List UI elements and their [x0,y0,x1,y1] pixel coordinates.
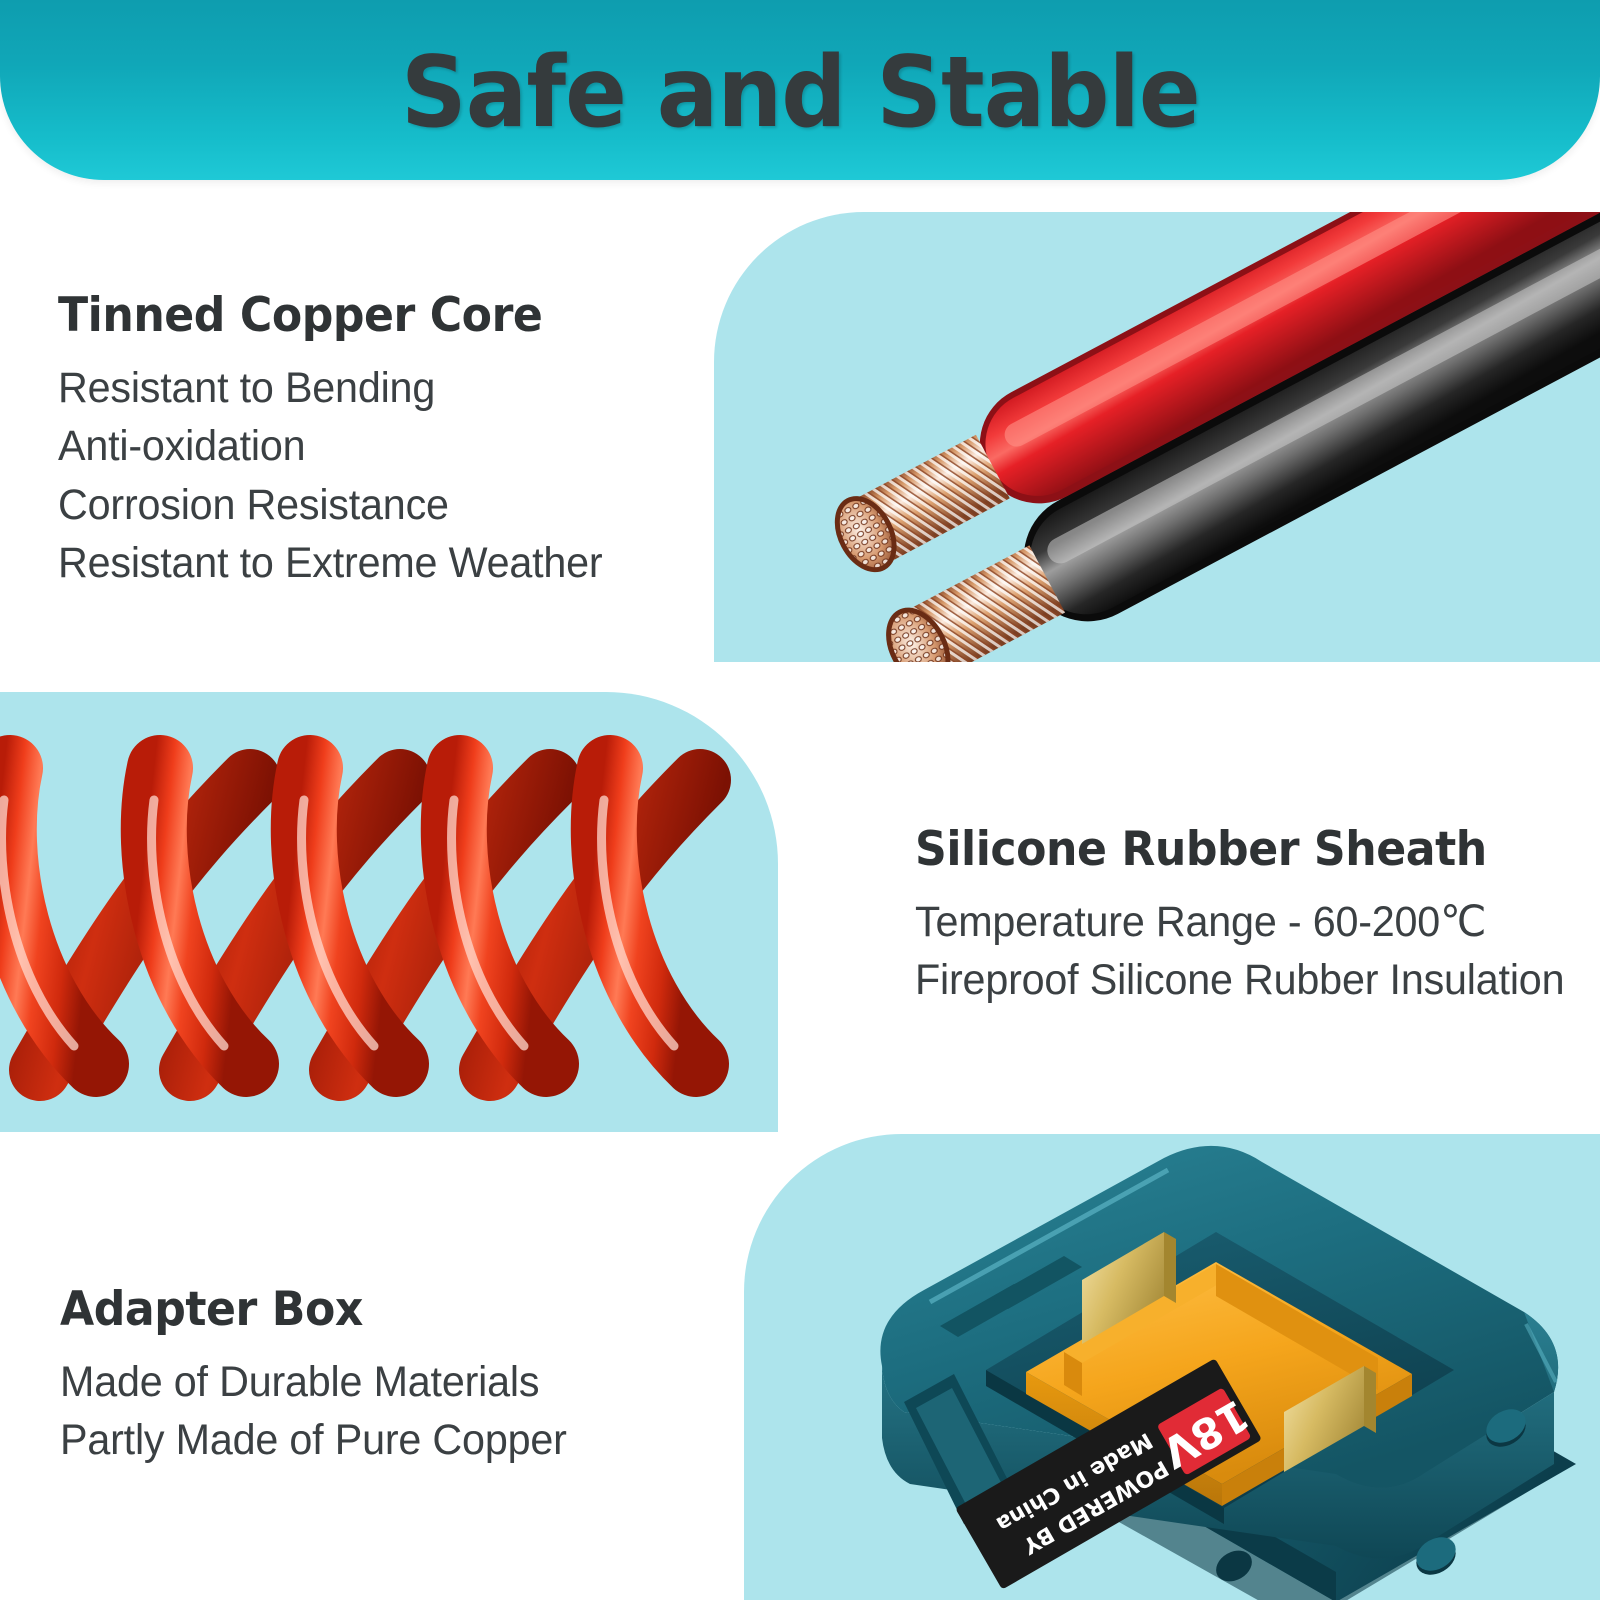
red-cable-copper-strands [826,433,1011,579]
feature-silicone-rubber-sheath: Silicone Rubber Sheath Temperature Range… [915,822,1591,1010]
red-spring-image [0,660,790,1140]
header-banner: Safe and Stable [0,0,1600,180]
feature-bullet: Fireproof Silicone Rubber Insulation [915,951,1564,1009]
adapter-body: 18V POWERED BY Made in China [880,1146,1576,1600]
feature-bullet: Partly Made of Pure Copper [60,1411,567,1469]
adapter-svg: 18V POWERED BY Made in China [744,1120,1600,1600]
spring-svg [0,660,790,1140]
feature-title: Adapter Box [60,1282,556,1337]
feature-bullet: Anti-oxidation [58,417,603,475]
black-cable-copper-strands [877,544,1066,695]
feature-bullet: Resistant to Extreme Weather [58,534,603,592]
feature-adapter-box: Adapter Box Made of Durable Materials Pa… [60,1282,588,1470]
wire-svg [714,200,1600,720]
feature-bullet: Made of Durable Materials [60,1353,567,1411]
feature-bullet: Resistant to Bending [58,359,603,417]
tinned-copper-wire-image [714,200,1600,720]
page-title: Safe and Stable [401,44,1200,142]
feature-title: Silicone Rubber Sheath [915,822,1551,877]
feature-title: Tinned Copper Core [58,288,591,343]
feature-bullet: Temperature Range - 60-200℃ [915,893,1564,951]
feature-bullet: Corrosion Resistance [58,476,603,534]
battery-adapter-image: 18V POWERED BY Made in China [744,1120,1600,1600]
feature-tinned-copper-core: Tinned Copper Core Resistant to Bending … [58,288,625,593]
